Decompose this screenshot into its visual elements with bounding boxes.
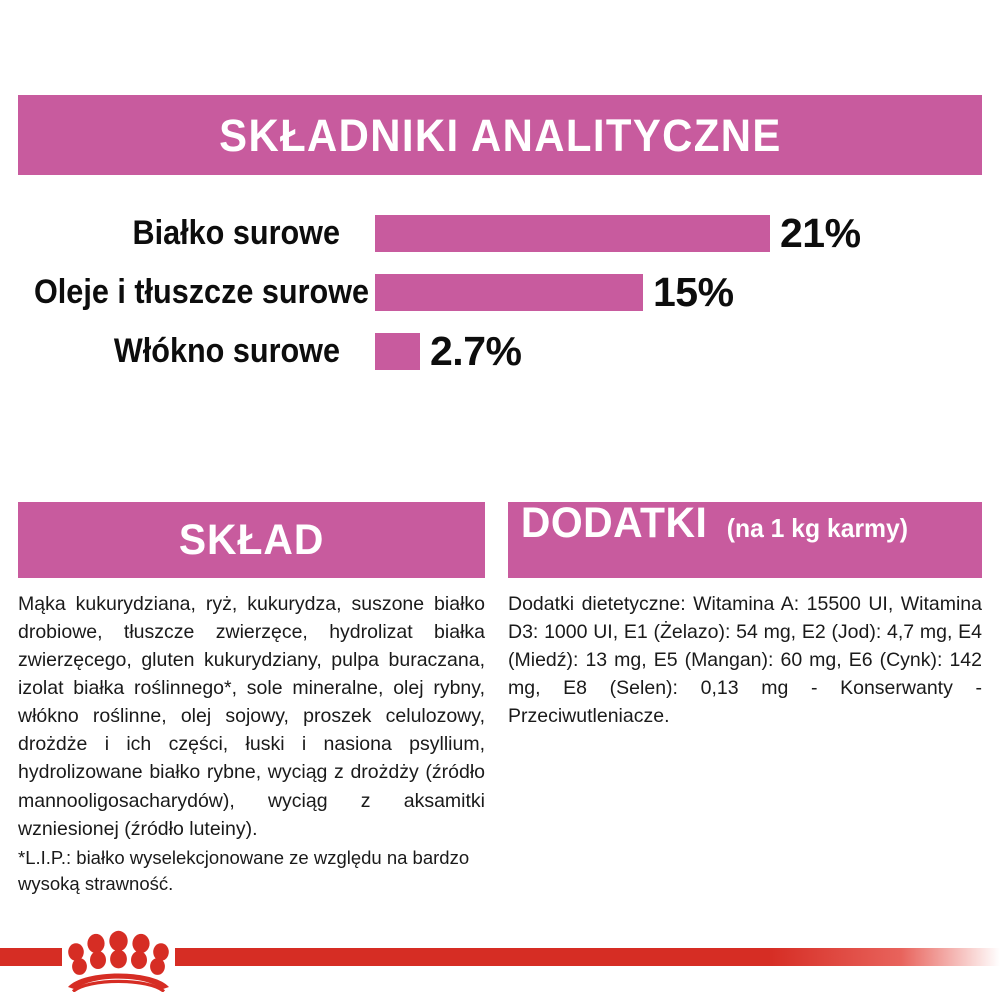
additives-banner: DODATKI (na 1 kg karmy)	[508, 502, 982, 578]
additives-title: DODATKI	[521, 502, 707, 545]
bar-category-label: Oleje i tłuszcze surowe	[34, 275, 340, 309]
additives-text: Dodatki dietetyczne: Witamina A: 15500 U…	[508, 590, 982, 730]
bar-track: 15%	[375, 274, 734, 311]
product-info-panel: SKŁADNIKI ANALITYCZNE Białko surowe 21% …	[0, 0, 1000, 1000]
bar-fill	[375, 274, 643, 311]
composition-banner: SKŁAD	[18, 502, 485, 578]
additives-column: Dodatki dietetyczne: Witamina A: 15500 U…	[508, 590, 982, 730]
bar-fill	[375, 333, 420, 370]
additives-subtitle: (na 1 kg karmy)	[727, 515, 908, 541]
bar-category-label: Włókno surowe	[34, 334, 340, 368]
bar-category-label: Białko surowe	[34, 216, 340, 250]
chart-row: Włókno surowe 2.7%	[0, 322, 1000, 380]
bar-fill	[375, 215, 770, 252]
analytical-constituents-title: SKŁADNIKI ANALITYCZNE	[219, 113, 781, 158]
bar-track: 2.7%	[375, 333, 521, 370]
composition-text: Mąka kukurydziana, ryż, kukurydza, suszo…	[18, 590, 485, 843]
footer-rule-right	[175, 948, 1000, 966]
bar-value-label: 2.7%	[430, 331, 521, 372]
composition-column: Mąka kukurydziana, ryż, kukurydza, suszo…	[18, 590, 485, 896]
bar-value-label: 21%	[780, 213, 861, 254]
footer	[0, 930, 1000, 1000]
chart-row: Białko surowe 21%	[0, 204, 1000, 262]
composition-footnote: *L.I.P.: białko wyselekcjonowane ze wzgl…	[18, 845, 485, 897]
composition-title: SKŁAD	[179, 519, 324, 562]
analytical-constituents-banner: SKŁADNIKI ANALITYCZNE	[18, 95, 982, 175]
footer-rule-left	[0, 948, 62, 966]
analytical-constituents-chart: Białko surowe 21% Oleje i tłuszcze surow…	[0, 200, 1000, 385]
chart-row: Oleje i tłuszcze surowe 15%	[0, 263, 1000, 321]
bar-track: 21%	[375, 215, 861, 252]
bar-value-label: 15%	[653, 272, 734, 313]
royal-canin-crown-icon	[62, 930, 175, 992]
